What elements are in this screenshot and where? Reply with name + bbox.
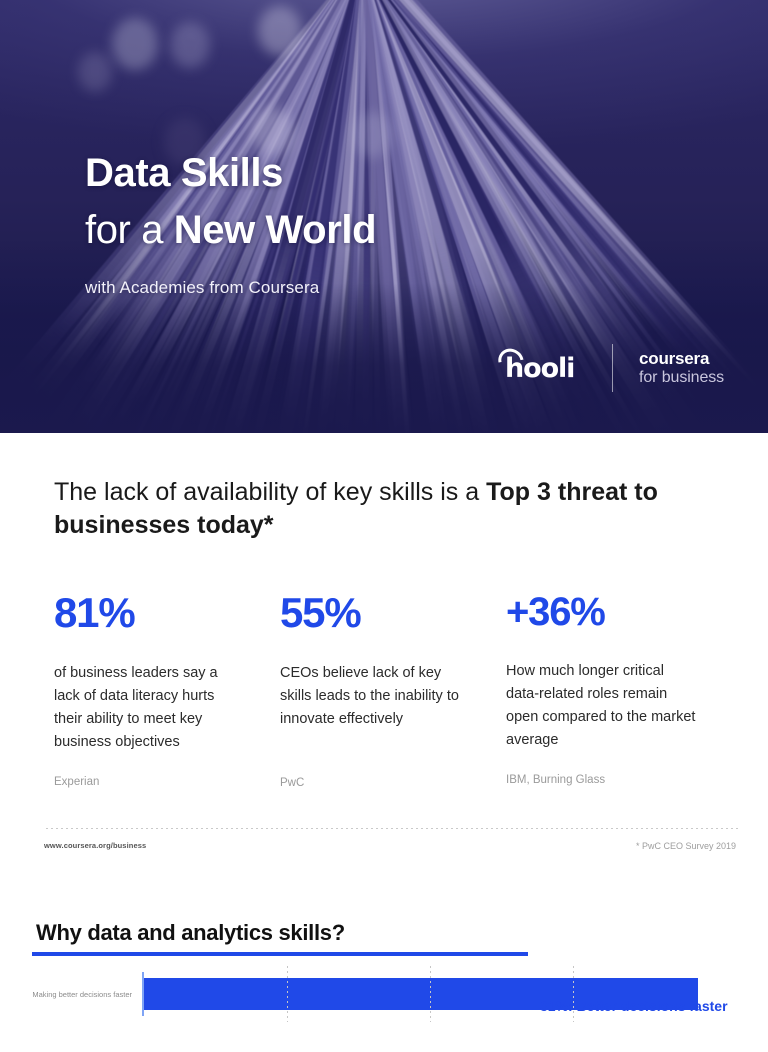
stats-row: 81% of business leaders say a lack of da…	[54, 592, 734, 789]
coursera-logo-tagline: for business	[639, 369, 724, 387]
hero-subtitle: with Academies from Coursera	[85, 278, 319, 298]
coursera-logo-name: coursera	[639, 349, 724, 369]
hero-title-line2: for a New World	[85, 205, 376, 256]
footer-url[interactable]: www.coursera.org/business	[44, 841, 146, 850]
section1-headline: The lack of availability of key skills i…	[54, 476, 694, 542]
coursera-logo: coursera for business	[639, 349, 724, 387]
stat-source: IBM, Burning Glass	[506, 774, 696, 786]
section2-title: Why data and analytics skills?	[36, 920, 345, 946]
stat-source: Experian	[54, 776, 244, 788]
hooli-logo: hooli	[500, 348, 590, 388]
chart-category-label: Making better decisions faster	[32, 990, 142, 999]
stat-card: +36% How much longer critical data-relat…	[506, 592, 732, 789]
stat-value: 81%	[54, 592, 244, 634]
chart-annotation: 31%: Better decisions faster	[540, 996, 768, 1016]
hero-title-line1: Data Skills	[85, 148, 376, 199]
chart-gridline	[287, 966, 288, 1022]
hero-banner: Data Skills for a New World with Academi…	[0, 0, 768, 433]
stat-source: PwC	[280, 777, 470, 789]
footer-source-note: * PwC CEO Survey 2019	[636, 841, 736, 851]
logo-lockup: hooli coursera for business	[500, 340, 750, 396]
stat-description: of business leaders say a lack of data l…	[54, 662, 244, 754]
stat-value: 55%	[280, 592, 470, 634]
bar-chart: Making better decisions faster 31%: Bett…	[32, 972, 768, 1052]
section2-underline	[32, 952, 528, 956]
headline-plain: The lack of availability of key skills i…	[54, 478, 486, 506]
hero-title-line2-bold: New World	[174, 208, 376, 252]
stat-value: +36%	[506, 592, 696, 632]
stat-card: 55% CEOs believe lack of key skills lead…	[280, 592, 506, 789]
hero-title: Data Skills for a New World	[85, 148, 376, 256]
hero-content: Data Skills for a New World with Academi…	[0, 0, 768, 433]
hero-title-line2-plain: for a	[85, 208, 174, 252]
stat-description: How much longer critical data-related ro…	[506, 660, 696, 752]
footer-divider	[46, 828, 738, 829]
hooli-logo-text: hooli	[500, 353, 574, 384]
logo-divider	[612, 344, 613, 392]
chart-gridline	[430, 966, 431, 1022]
stat-description: CEOs believe lack of key skills leads to…	[280, 662, 470, 731]
stat-card: 81% of business leaders say a lack of da…	[54, 592, 280, 789]
